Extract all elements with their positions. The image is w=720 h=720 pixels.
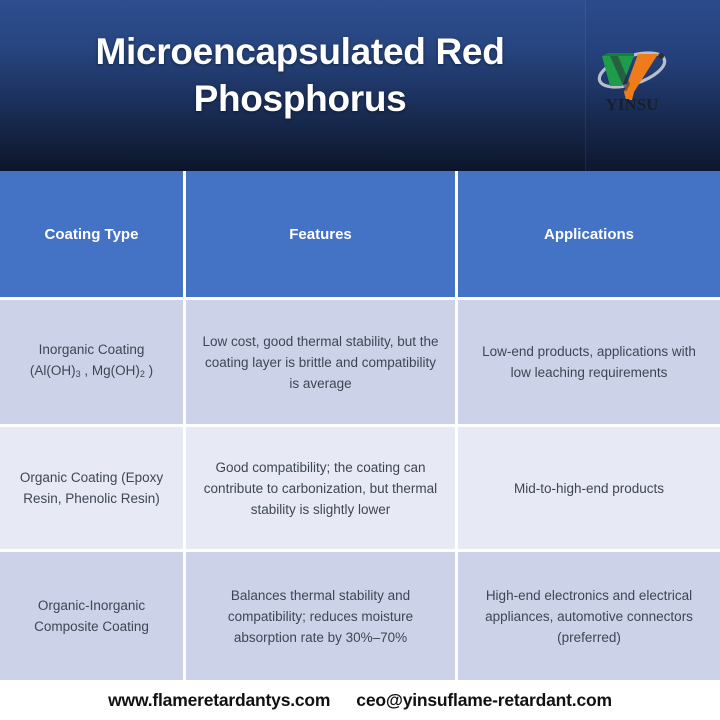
footer: www.flameretardantys.com ceo@yinsuflame-…: [0, 680, 720, 720]
cell-features: Low cost, good thermal stability, but th…: [186, 300, 458, 427]
comparison-table: Coating Type Features Applications Inorg…: [0, 171, 720, 680]
banner: Microencapsulated Red Phosphorus YINSU: [0, 0, 720, 171]
cell-coating-type: Organic Coating (Epoxy Resin, Phenolic R…: [0, 427, 186, 552]
column-header-coating-type: Coating Type: [0, 171, 186, 300]
cell-applications: Mid-to-high-end products: [458, 427, 720, 552]
cell-coating-type: Inorganic Coating (Al(OH)3 , Mg(OH)2 ): [0, 300, 186, 427]
column-header-features: Features: [186, 171, 458, 300]
cell-applications: Low-end products, applications with low …: [458, 300, 720, 427]
table-row: Inorganic Coating (Al(OH)3 , Mg(OH)2 ) L…: [0, 300, 720, 427]
cell-applications: High-end electronics and electrical appl…: [458, 552, 720, 680]
slide-page: Microencapsulated Red Phosphorus YINSU C…: [0, 0, 720, 720]
footer-email[interactable]: ceo@yinsuflame-retardant.com: [356, 690, 612, 711]
coating-type-formula: (Al(OH)3 , Mg(OH)2 ): [30, 360, 153, 385]
table-row: Organic Coating (Epoxy Resin, Phenolic R…: [0, 427, 720, 552]
column-header-applications: Applications: [458, 171, 720, 300]
page-title: Microencapsulated Red Phosphorus: [20, 28, 580, 122]
yinsu-logo: YINSU: [586, 44, 678, 114]
coating-type-name: Inorganic Coating: [30, 339, 153, 360]
table-row: Organic-Inorganic Composite Coating Bala…: [0, 552, 720, 680]
cell-features: Balances thermal stability and compatibi…: [186, 552, 458, 680]
cell-features: Good compatibility; the coating can cont…: [186, 427, 458, 552]
table-header-row: Coating Type Features Applications: [0, 171, 720, 300]
svg-text:YINSU: YINSU: [606, 95, 659, 114]
footer-website[interactable]: www.flameretardantys.com: [108, 690, 330, 711]
cell-coating-type: Organic-Inorganic Composite Coating: [0, 552, 186, 680]
